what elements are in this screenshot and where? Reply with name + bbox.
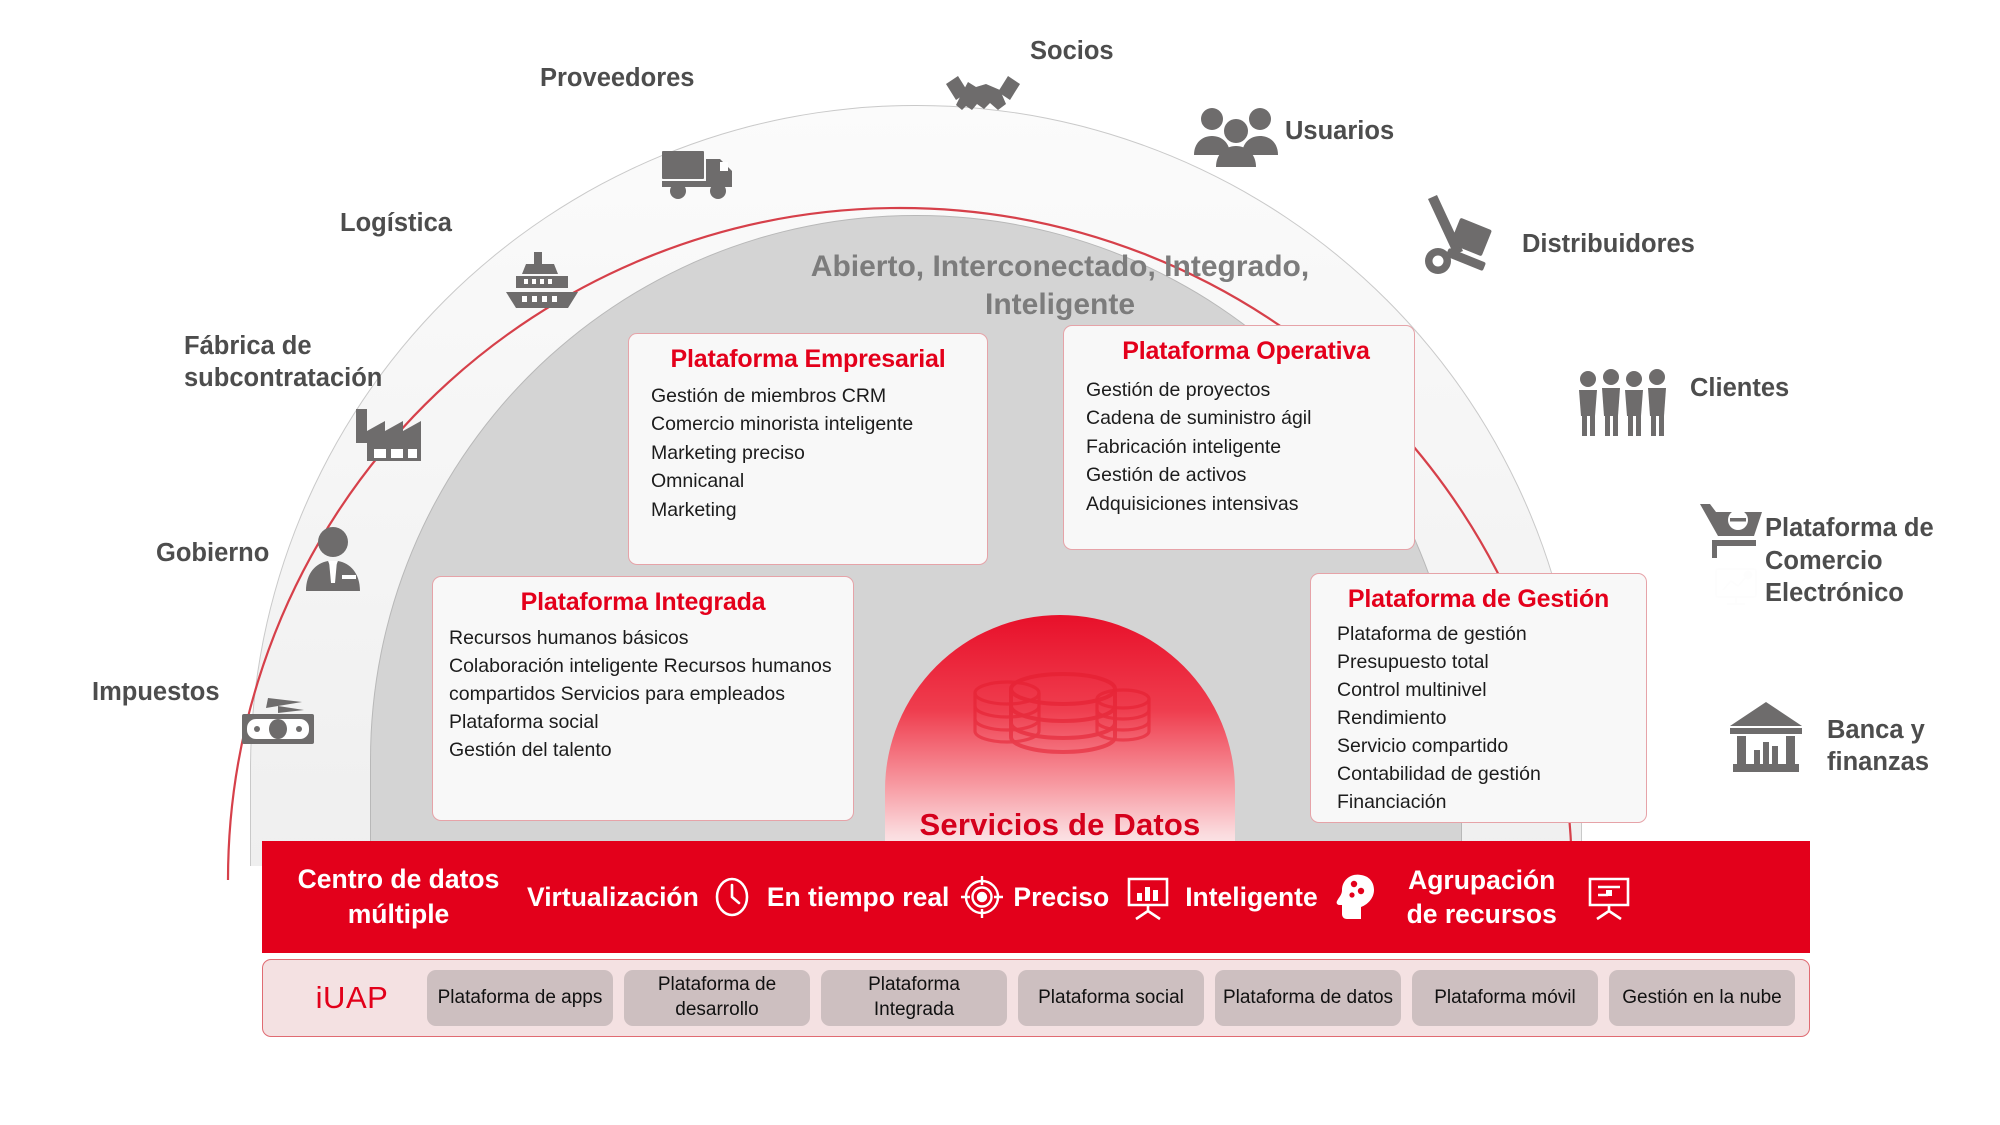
list-item: Servicio compartido (1327, 732, 1630, 760)
eco-label-logistica: Logística (340, 208, 452, 239)
banner-item-virtualizacion[interactable]: Virtualización (527, 874, 753, 920)
shopping-cart-icon (1698, 500, 1764, 567)
chart-board-icon (1125, 873, 1171, 921)
database-stack-icon (965, 663, 1155, 778)
panel-item-list: Recursos humanos básicos Colaboración in… (449, 624, 837, 764)
ship-icon (498, 250, 586, 317)
list-item: Recursos humanos básicos (449, 624, 837, 652)
panel-item-list: Gestión de proyectos Cadena de suministr… (1080, 376, 1398, 519)
list-item: Control multinivel (1327, 676, 1630, 704)
clock-icon (711, 874, 753, 920)
eco-label-usuarios: Usuarios (1285, 116, 1394, 147)
list-item: Presupuesto total (1327, 648, 1630, 676)
infrastructure-banner: Centro de datos múltiple Virtualización … (262, 841, 1810, 953)
iuap-chip[interactable]: Plataforma móvil (1412, 970, 1598, 1026)
panel-item-list: Plataforma de gestión Presupuesto total … (1327, 620, 1630, 817)
list-item: Plataforma de gestión (1327, 620, 1630, 648)
panel-item-list: Gestión de miembros CRM Comercio minoris… (645, 382, 971, 525)
list-item: Colaboración inteligente Recursos humano… (449, 652, 837, 708)
factory-icon (352, 405, 426, 476)
diagram-canvas: Abierto, Interconectado, Integrado, Inte… (0, 0, 2000, 1125)
list-item: Gestión de activos (1080, 461, 1398, 490)
eco-label-proveedores: Proveedores (540, 63, 695, 94)
panel-plataforma-de-gestion[interactable]: Plataforma de Gestión Plataforma de gest… (1310, 573, 1647, 823)
bank-icon (1727, 700, 1805, 781)
eco-label-plataforma-comercio-electronico: Plataforma de Comercio Electrónico (1765, 512, 1970, 610)
list-item: Financiación (1327, 788, 1630, 816)
official-person-icon (298, 525, 368, 596)
banner-item-agrupacion-de-recursos[interactable]: Agrupación de recursos (1392, 863, 1632, 932)
eco-label-banca-y-finanzas: Banca y finanzas (1827, 714, 1992, 778)
panel-plataforma-integrada[interactable]: Plataforma Integrada Recursos humanos bá… (432, 576, 854, 821)
panel-plataforma-operativa[interactable]: Plataforma Operativa Gestión de proyecto… (1063, 325, 1415, 550)
banner-item-label: Preciso (1013, 880, 1109, 914)
list-item: Marketing preciso (645, 439, 971, 468)
banknote-icon (232, 692, 324, 753)
list-item: Omnicanal (645, 467, 971, 496)
iuap-chip[interactable]: Plataforma social (1018, 970, 1204, 1026)
panel-plataforma-empresarial[interactable]: Plataforma Empresarial Gestión de miembr… (628, 333, 988, 565)
panel-title: Plataforma de Gestión (1327, 586, 1630, 614)
list-item: Plataforma social (449, 708, 837, 736)
target-icon (959, 874, 1005, 920)
eco-label-clientes: Clientes (1690, 373, 1789, 404)
list-item: Contabilidad de gestión (1327, 760, 1630, 788)
eco-label-fabrica-de-subcontratacion: Fábrica de subcontratación (184, 330, 414, 394)
banner-title: Centro de datos múltiple (286, 862, 511, 932)
list-item: Gestión de proyectos (1080, 376, 1398, 405)
banner-item-label: Virtualización (527, 880, 699, 914)
iuap-chip[interactable]: Plataforma Integrada (821, 970, 1007, 1026)
list-item: Fabricación inteligente (1080, 433, 1398, 462)
list-item: Gestión de miembros CRM (645, 382, 971, 411)
banner-item-label: Inteligente (1185, 880, 1318, 914)
list-item: Rendimiento (1327, 704, 1630, 732)
list-item: Cadena de suministro ágil (1080, 404, 1398, 433)
banner-item-inteligente[interactable]: Inteligente (1185, 871, 1376, 923)
eco-label-gobierno: Gobierno (156, 538, 269, 569)
eco-label-distribuidores: Distribuidores (1522, 229, 1695, 260)
list-item: Adquisiciones intensivas (1080, 490, 1398, 519)
presentation-board-icon (1586, 873, 1632, 921)
iuap-logo: iUAP (277, 980, 427, 1016)
brain-head-icon (1334, 871, 1376, 923)
list-item: Marketing (645, 496, 971, 525)
iuap-chip[interactable]: Gestión en la nube (1609, 970, 1795, 1026)
banner-item-en-tiempo-real[interactable]: En tiempo real (767, 874, 1006, 920)
iuap-chip[interactable]: Plataforma de desarrollo (624, 970, 810, 1026)
hand-truck-icon (1420, 195, 1504, 284)
dome-caption: Abierto, Interconectado, Integrado, Inte… (740, 248, 1380, 324)
users-group-icon (1190, 105, 1282, 172)
people-group-icon (1575, 368, 1671, 443)
list-item: Gestión del talento (449, 736, 837, 764)
panel-title: Plataforma Integrada (449, 589, 837, 617)
data-services-label: Servicios de Datos (920, 807, 1201, 843)
eco-label-impuestos: Impuestos (92, 677, 220, 708)
monitor-analytics-icon (1713, 566, 1759, 615)
list-item: Comercio minorista inteligente (645, 410, 971, 439)
iuap-chip[interactable]: Plataforma de apps (427, 970, 613, 1026)
panel-title: Plataforma Operativa (1080, 338, 1398, 366)
iuap-strip: iUAP Plataforma de apps Plataforma de de… (262, 959, 1810, 1037)
iuap-chip-list: Plataforma de apps Plataforma de desarro… (427, 970, 1795, 1026)
iuap-chip[interactable]: Plataforma de datos (1215, 970, 1401, 1026)
banner-item-label: En tiempo real (767, 880, 950, 914)
truck-icon (660, 145, 738, 208)
banner-item-preciso[interactable]: Preciso (1013, 873, 1171, 921)
banner-item-label: Agrupación de recursos (1392, 863, 1572, 932)
handshake-icon (940, 68, 1026, 135)
panel-title: Plataforma Empresarial (645, 346, 971, 374)
eco-label-socios: Socios (1030, 36, 1114, 67)
